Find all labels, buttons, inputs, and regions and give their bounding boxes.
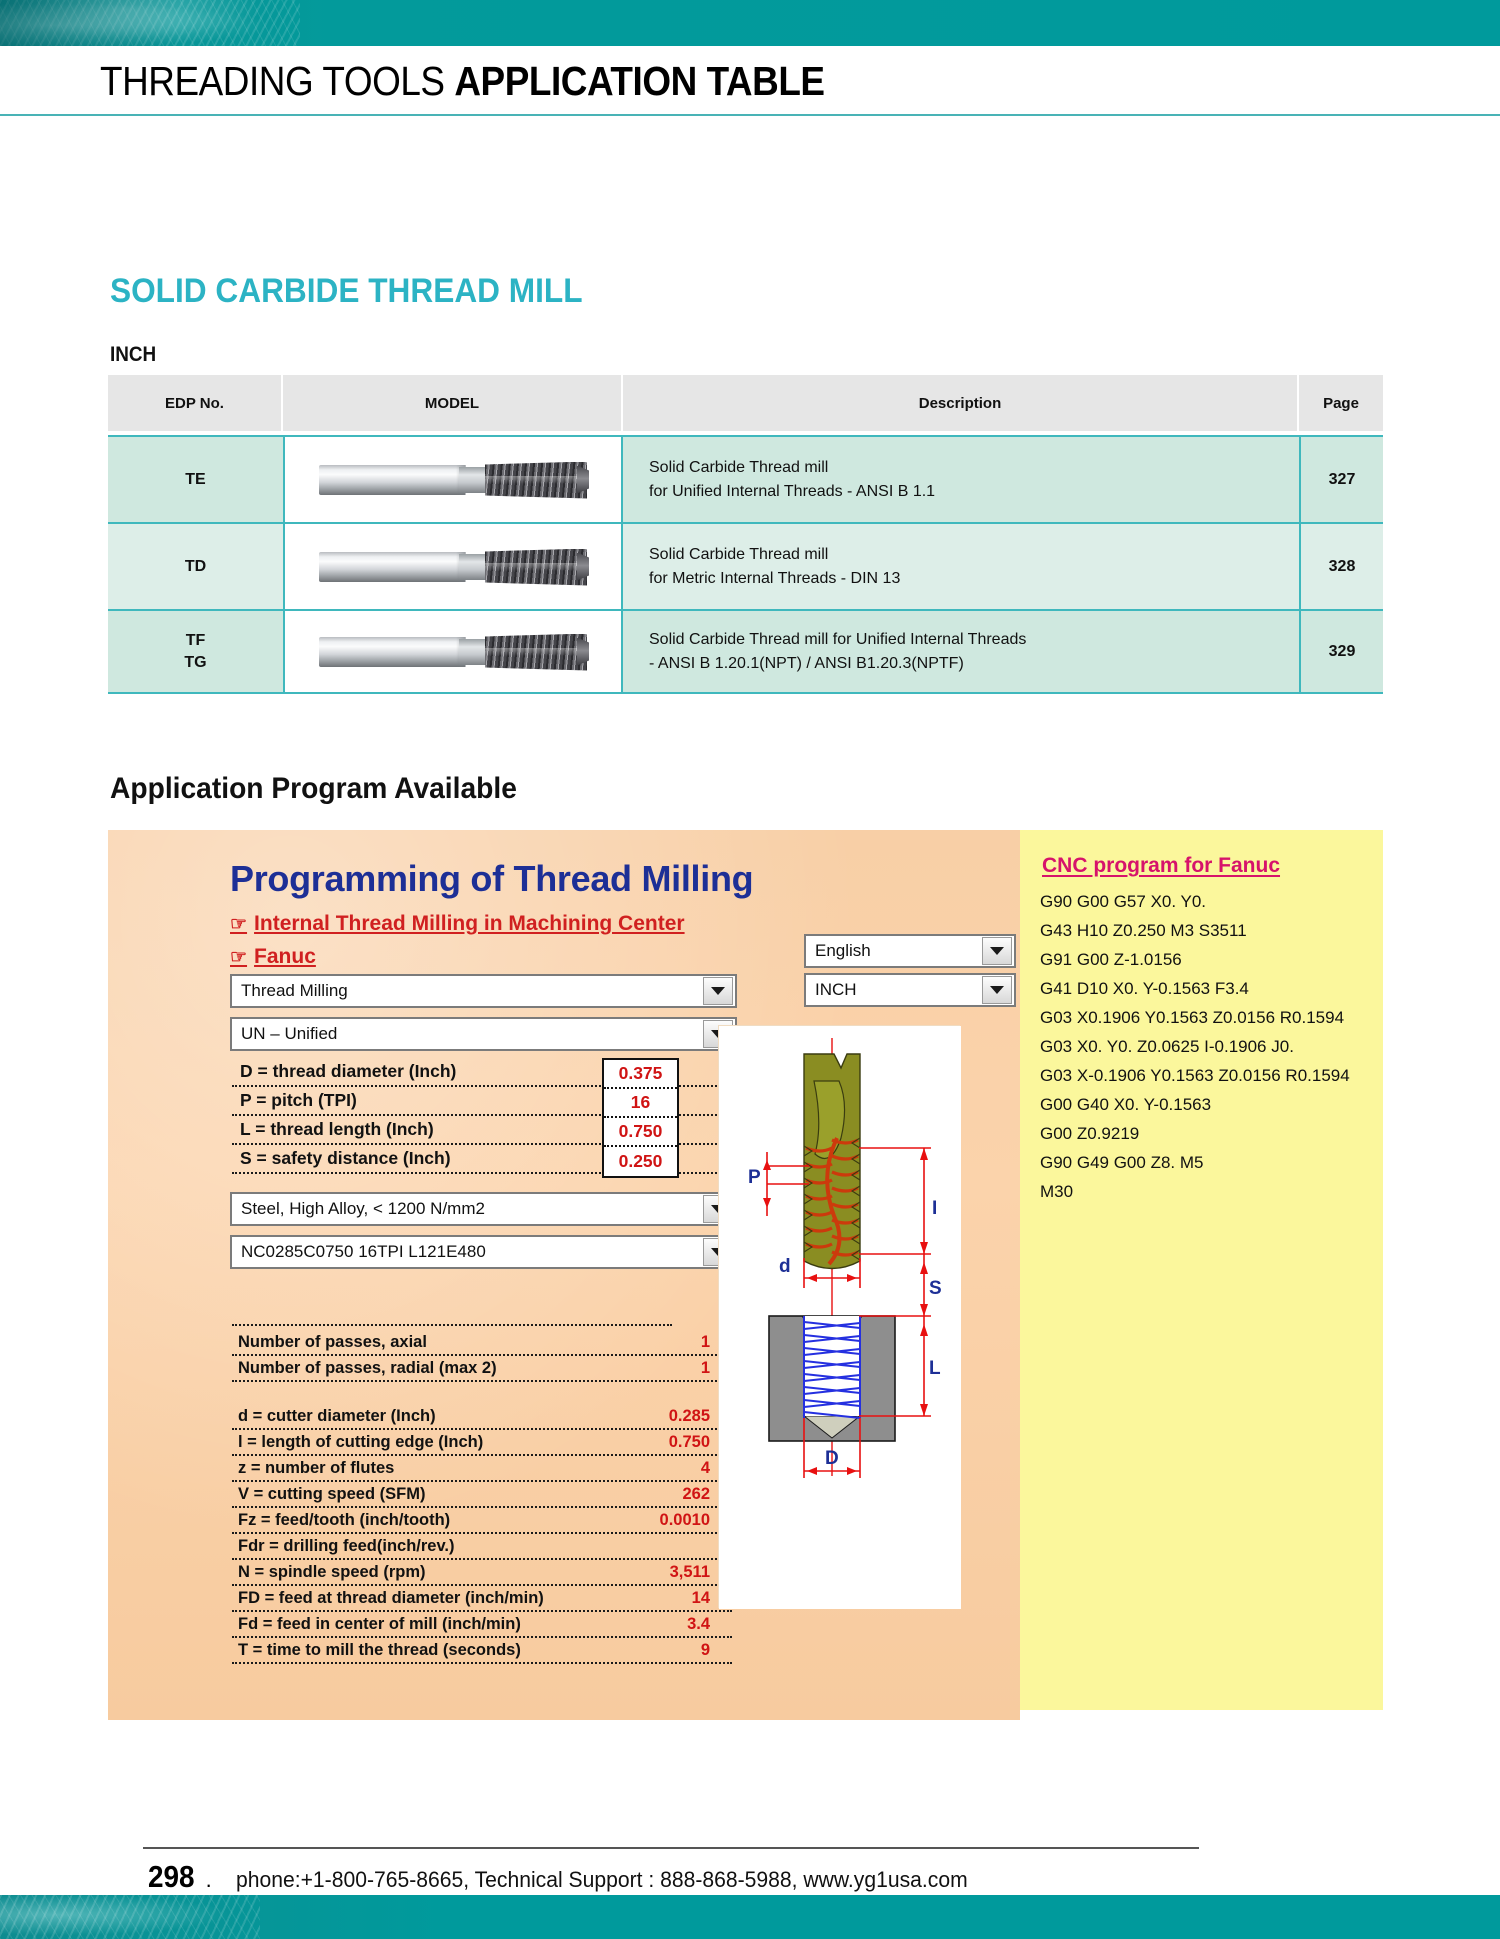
thread-milling-diagram-svg: P d I S L D (719, 1026, 961, 1609)
desc-line-2: for Unified Internal Threads - ANSI B 1.… (649, 480, 1299, 503)
pitch-field[interactable]: 16 (604, 1089, 677, 1118)
result-value: 3.4 (687, 1615, 710, 1634)
language-select[interactable]: English (804, 934, 1016, 968)
table-row: TE Solid Carbide Thread mill for Unified… (108, 435, 1383, 522)
cnc-line: G03 X0. Y0. Z0.0625 I-0.1906 J0. (1040, 1037, 1294, 1057)
band-shade (0, 0, 180, 46)
cell-edp-line-2: TG (108, 652, 283, 674)
band-texture (0, 1895, 260, 1939)
results-top-divider (232, 1324, 672, 1326)
result-row-feed-center-mill: Fd = feed in center of mill (inch/min) 3… (232, 1612, 732, 1638)
desc-line-1: Solid Carbide Thread mill for Unified In… (649, 628, 1299, 651)
desc-line-1: Solid Carbide Thread mill (649, 456, 1299, 479)
product-table: EDP No. MODEL Description Page TE Solid … (108, 375, 1383, 694)
chevron-down-icon[interactable] (703, 977, 733, 1005)
diagram-label-I: I (932, 1198, 937, 1219)
cell-edp: TF TG (108, 609, 283, 694)
cell-page: 327 (1299, 435, 1383, 522)
table-header-row: EDP No. MODEL Description Page (108, 375, 1383, 435)
cell-model (283, 609, 623, 694)
input-label: S = safety distance (Inch) (232, 1148, 451, 1169)
units-select[interactable]: INCH (804, 973, 1016, 1007)
material-select[interactable]: Steel, High Alloy, < 1200 N/mm2 (230, 1192, 737, 1226)
cell-description: Solid Carbide Thread mill for Metric Int… (623, 522, 1299, 609)
cnc-line: G43 H10 Z0.250 M3 S3511 (1040, 921, 1247, 941)
cell-page: 328 (1299, 522, 1383, 609)
col-header-description: Description (623, 375, 1299, 435)
result-value: 0.0010 (660, 1511, 710, 1530)
input-values-box: 0.375 16 0.750 0.250 (602, 1058, 679, 1178)
bullet-fanuc: ☞Fanuc (230, 945, 316, 969)
language-select-value: English (806, 941, 982, 961)
cnc-line: G91 G00 Z-1.0156 (1040, 950, 1182, 970)
result-label: Fd = feed in center of mill (inch/min) (232, 1615, 521, 1634)
result-row-spindle-speed: N = spindle speed (rpm) 3,511 (232, 1560, 732, 1586)
bottom-decorative-band (0, 1895, 1500, 1939)
program-title: Programming of Thread Milling (230, 858, 753, 900)
result-label: Number of passes, axial (232, 1333, 427, 1352)
result-label: V = cutting speed (SFM) (232, 1485, 425, 1504)
result-row-cutting-edge-length: l = length of cutting edge (Inch) 0.750 (232, 1430, 732, 1456)
thread-mill-tool-icon (319, 630, 587, 674)
cnc-program-title: CNC program for Fanuc (1042, 854, 1280, 878)
result-value: 4 (701, 1459, 710, 1478)
result-row-feed-per-tooth: Fz = feed/tooth (inch/tooth) 0.0010 (232, 1508, 732, 1534)
page-number: 298 (148, 1859, 195, 1895)
result-value: 0.750 (669, 1433, 710, 1452)
tool-code-select-value: NC0285C0750 16TPI L121E480 (232, 1242, 703, 1262)
bullet-1-label: Internal Thread Milling in Machining Cen… (254, 912, 685, 935)
result-label: d = cutter diameter (Inch) (232, 1407, 436, 1426)
result-label: l = length of cutting edge (Inch) (232, 1433, 483, 1452)
page-title: THREADING TOOLS APPLICATION TABLE (100, 58, 825, 105)
result-label: FD = feed at thread diameter (inch/min) (232, 1589, 544, 1608)
diagram-label-L: L (929, 1358, 941, 1379)
operation-select-value: Thread Milling (232, 981, 703, 1001)
col-header-page: Page (1299, 375, 1383, 435)
result-row-flutes: z = number of flutes 4 (232, 1456, 732, 1482)
cell-model (283, 522, 623, 609)
result-value: 262 (682, 1485, 710, 1504)
section-title: SOLID CARBIDE THREAD MILL (110, 272, 583, 311)
catalog-page: THREADING TOOLS APPLICATION TABLE SOLID … (0, 0, 1500, 1939)
bullet-2-label: Fanuc (254, 945, 316, 968)
result-label: N = spindle speed (rpm) (232, 1563, 426, 1582)
footer-divider (143, 1847, 1199, 1849)
thread-milling-diagram: P d I S L D (718, 1025, 960, 1608)
result-label: T = time to mill the thread (seconds) (232, 1641, 521, 1660)
cell-edp: TE (108, 435, 283, 522)
result-label: Fz = feed/tooth (inch/tooth) (232, 1511, 450, 1530)
desc-line-2: - ANSI B 1.20.1(NPT) / ANSI B1.20.3(NPTF… (649, 652, 1299, 675)
cnc-line: G00 Z0.9219 (1040, 1124, 1139, 1144)
result-row-feed-thread-diameter: FD = feed at thread diameter (inch/min) … (232, 1586, 732, 1612)
cell-model (283, 435, 623, 522)
result-row-drilling-feed: Fdr = drilling feed(inch/rev.) (232, 1534, 732, 1560)
result-label: Number of passes, radial (max 2) (232, 1359, 497, 1378)
table-row: TD Solid Carbide Thread mill for Metric … (108, 522, 1383, 609)
col-header-model: MODEL (283, 375, 623, 435)
footer-contact-text: phone:+1-800-765-8665, Technical Support… (236, 1867, 968, 1893)
cell-description: Solid Carbide Thread mill for Unified In… (623, 435, 1299, 522)
application-program-heading: Application Program Available (110, 772, 517, 806)
diagram-label-d: d (779, 1256, 791, 1277)
thread-standard-select[interactable]: UN – Unified (230, 1017, 737, 1051)
cnc-line: G90 G00 G57 X0. Y0. (1040, 892, 1206, 912)
cnc-line: G03 X-0.1906 Y0.1563 Z0.0156 R0.1594 (1040, 1066, 1350, 1086)
thread-mill-tool-icon (319, 545, 587, 589)
application-screenshot: Programming of Thread Milling ☞Internal … (108, 830, 1383, 1720)
cnc-line: G00 G40 X0. Y-0.1563 (1040, 1095, 1211, 1115)
cnc-line: G41 D10 X0. Y-0.1563 F3.4 (1040, 979, 1249, 999)
input-label: L = thread length (Inch) (232, 1119, 434, 1140)
operation-select[interactable]: Thread Milling (230, 974, 737, 1008)
title-divider (0, 114, 1500, 116)
screenshot-left-panel: Programming of Thread Milling ☞Internal … (108, 830, 1020, 1720)
result-label: Fdr = drilling feed(inch/rev.) (232, 1537, 455, 1556)
diagram-label-P: P (748, 1167, 761, 1188)
result-row-cutter-diameter: d = cutter diameter (Inch) 0.285 (232, 1404, 732, 1430)
cell-edp-line-1: TF (108, 630, 283, 652)
tool-code-select[interactable]: NC0285C0750 16TPI L121E480 (230, 1235, 737, 1269)
cnc-line: G03 X0.1906 Y0.1563 Z0.0156 R0.1594 (1040, 1008, 1344, 1028)
desc-line-1: Solid Carbide Thread mill (649, 543, 1299, 566)
input-label: D = thread diameter (Inch) (232, 1061, 456, 1082)
result-row-cutting-speed: V = cutting speed (SFM) 262 (232, 1482, 732, 1508)
pointing-hand-icon: ☞ (230, 947, 247, 968)
top-decorative-band (0, 0, 1500, 46)
cnc-line: G90 G49 G00 Z8. M5 (1040, 1153, 1203, 1173)
cnc-program-panel: CNC program for Fanuc G90 G00 G57 X0. Y0… (1020, 830, 1383, 1710)
thread-length-field[interactable]: 0.750 (604, 1118, 677, 1147)
results-spacer (232, 1382, 732, 1404)
col-header-edp: EDP No. (108, 375, 283, 435)
page-title-light: THREADING TOOLS (100, 58, 454, 104)
result-value: 9 (701, 1641, 710, 1660)
diagram-label-D: D (825, 1448, 839, 1469)
result-row-time-to-mill: T = time to mill the thread (seconds) 9 (232, 1638, 732, 1664)
result-value: 14 (692, 1589, 710, 1608)
chevron-down-icon[interactable] (982, 937, 1012, 965)
cell-edp: TD (108, 522, 283, 609)
thread-mill-tool-icon (319, 458, 587, 502)
thread-standard-select-value: UN – Unified (232, 1024, 703, 1044)
thread-diameter-field[interactable]: 0.375 (604, 1060, 677, 1089)
chevron-down-icon[interactable] (982, 976, 1012, 1004)
cell-description: Solid Carbide Thread mill for Unified In… (623, 609, 1299, 694)
bullet-internal-thread-milling: ☞Internal Thread Milling in Machining Ce… (230, 912, 685, 936)
result-value: 1 (701, 1359, 710, 1378)
result-value: 0.285 (669, 1407, 710, 1426)
cnc-line: M30 (1040, 1182, 1073, 1202)
pointing-hand-icon: ☞ (230, 914, 247, 935)
desc-line-2: for Metric Internal Threads - DIN 13 (649, 567, 1299, 590)
result-value: 3,511 (670, 1563, 710, 1582)
input-label: P = pitch (TPI) (232, 1090, 357, 1111)
safety-distance-field[interactable]: 0.250 (604, 1147, 677, 1176)
result-row-passes-axial: Number of passes, axial 1 (232, 1330, 732, 1356)
units-select-value: INCH (806, 980, 982, 1000)
result-label: z = number of flutes (232, 1459, 394, 1478)
page-title-bold: APPLICATION TABLE (454, 58, 824, 104)
cell-page: 329 (1299, 609, 1383, 694)
result-row-passes-radial: Number of passes, radial (max 2) 1 (232, 1356, 732, 1382)
table-row: TF TG Solid Carbide Thread mill for Unif… (108, 609, 1383, 694)
material-select-value: Steel, High Alloy, < 1200 N/mm2 (232, 1199, 703, 1219)
unit-label: INCH (110, 343, 156, 367)
diagram-label-S: S (929, 1278, 942, 1299)
results-list: Number of passes, axial 1 Number of pass… (232, 1330, 732, 1664)
result-value: 1 (701, 1333, 710, 1352)
